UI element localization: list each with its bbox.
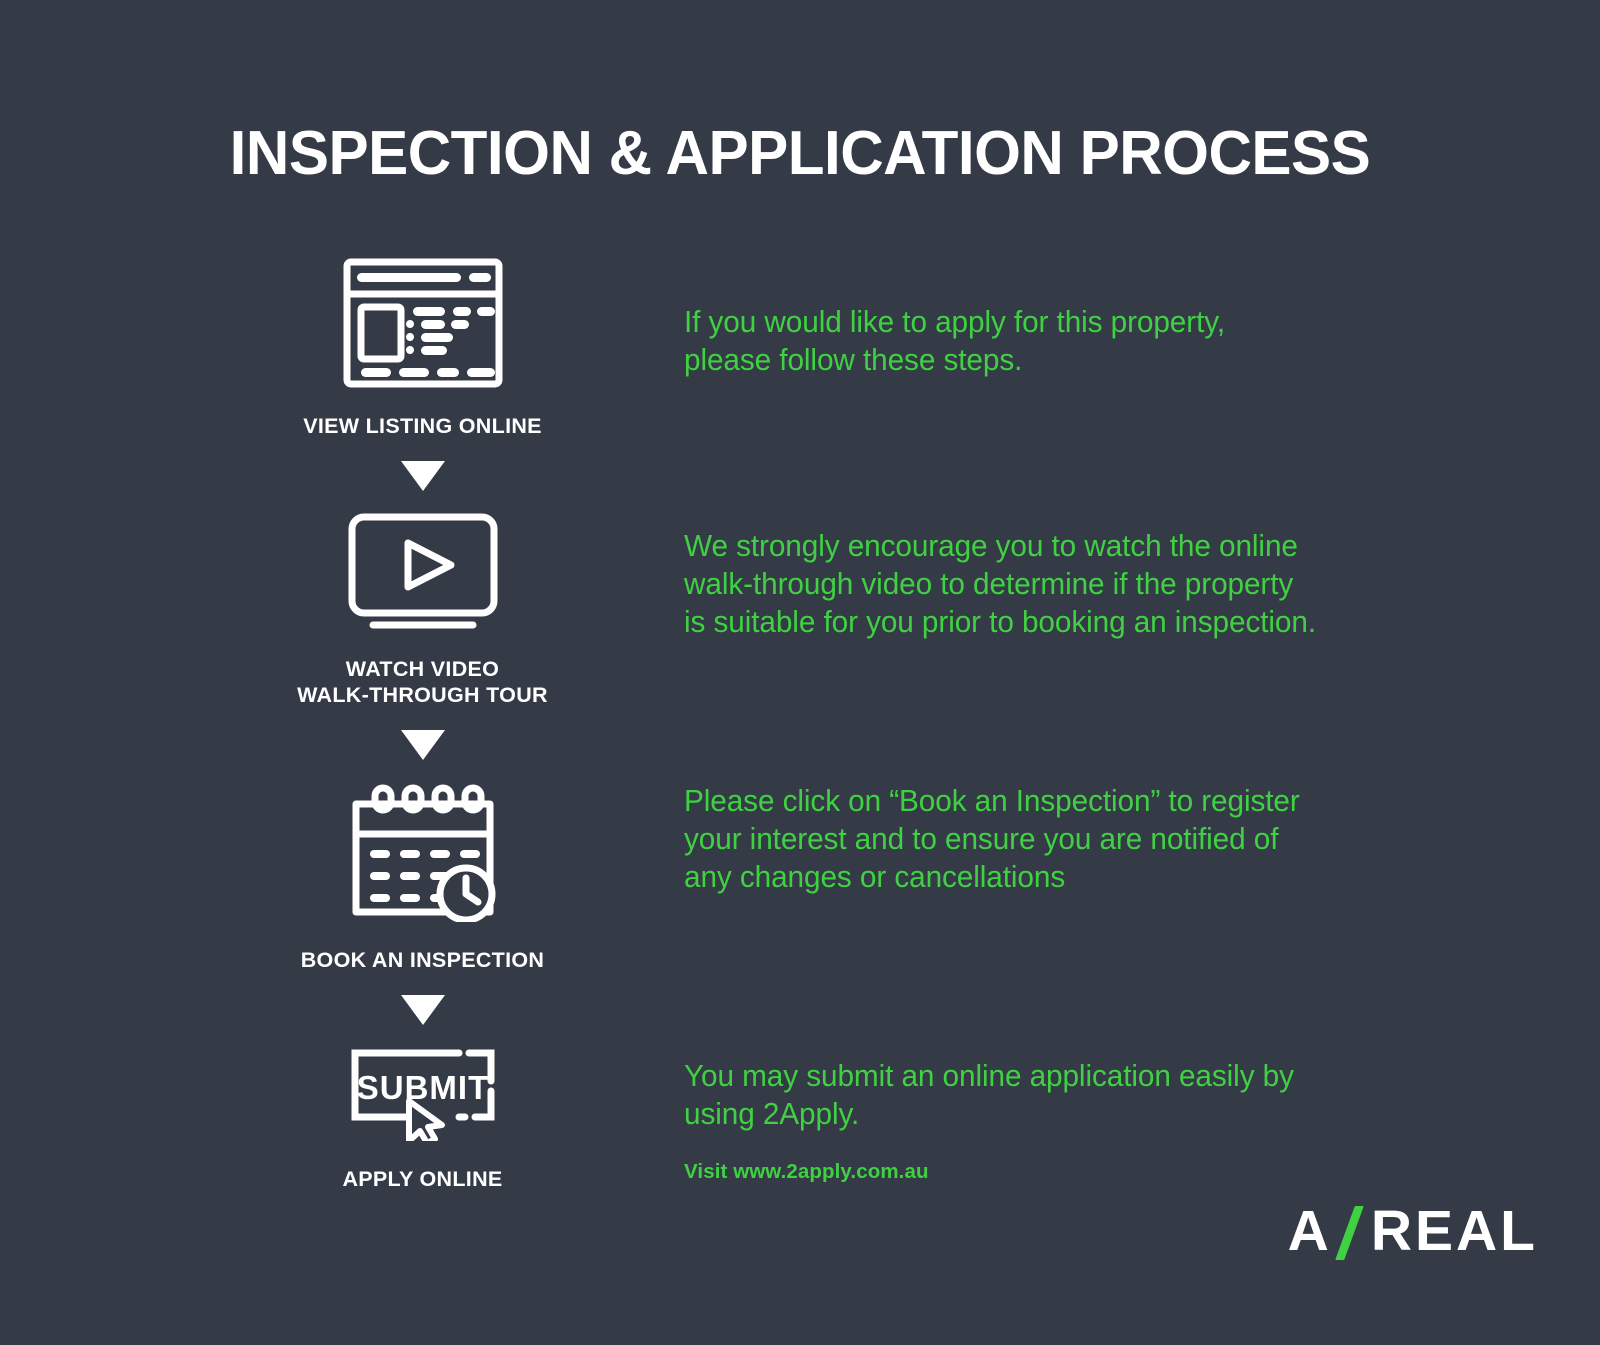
logo-slash-icon: [1333, 1204, 1369, 1258]
step-arrow-2: [255, 730, 590, 760]
step-label: APPLY ONLINE: [342, 1167, 502, 1192]
step-description-view-listing: If you would like to apply for this prop…: [684, 303, 1225, 379]
step-arrow-3: [255, 995, 590, 1025]
down-arrow-icon: [401, 995, 445, 1025]
step-label: VIEW LISTING ONLINE: [303, 414, 542, 439]
step-label: WATCH VIDEO WALK-THROUGH TOUR: [297, 657, 548, 708]
step-view-listing-online: VIEW LISTING ONLINE: [255, 258, 590, 439]
submit-icon-text: SUBMIT: [356, 1069, 489, 1106]
step-book-inspection: BOOK AN INSPECTION: [255, 782, 590, 973]
step-description-apply-online: You may submit an online application eas…: [684, 1057, 1294, 1133]
down-arrow-icon: [401, 461, 445, 491]
step-label: BOOK AN INSPECTION: [301, 948, 545, 973]
listing-window-icon: [343, 258, 503, 388]
step-apply-online: SUBMIT APPLY ONLINE: [255, 1047, 590, 1192]
step-watch-video: WATCH VIDEO WALK-THROUGH TOUR: [255, 513, 590, 708]
submit-button-cursor-icon: SUBMIT: [347, 1047, 499, 1141]
step-description-watch-video: We strongly encourage you to watch the o…: [684, 527, 1316, 640]
video-play-monitor-icon: [348, 513, 498, 631]
step-description-book-inspection: Please click on “Book an Inspection” to …: [684, 782, 1300, 895]
visit-website-line[interactable]: Visit www.2apply.com.au: [684, 1160, 929, 1184]
step-arrow-1: [255, 461, 590, 491]
brand-logo: A REAL: [1288, 1198, 1538, 1264]
infographic-page: INSPECTION & APPLICATION PROCESS: [0, 0, 1600, 1345]
page-title: INSPECTION & APPLICATION PROCESS: [24, 118, 1576, 189]
logo-letter-a: A: [1288, 1198, 1331, 1264]
down-arrow-icon: [401, 730, 445, 760]
calendar-clock-icon: [348, 782, 498, 922]
steps-column: VIEW LISTING ONLINE WATCH VIDEO WALK-THR…: [255, 258, 590, 1193]
logo-word: REAL: [1371, 1198, 1538, 1264]
